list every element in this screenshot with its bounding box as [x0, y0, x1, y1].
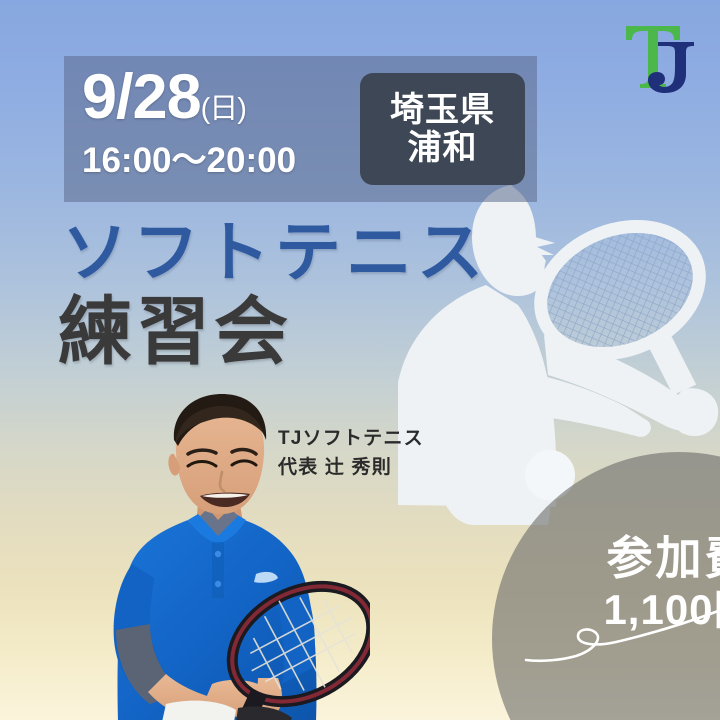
date-block: 9/28(日) 16:00〜20:00	[82, 66, 296, 178]
event-date-number: 9/28	[82, 62, 201, 132]
tj-logo	[618, 16, 700, 94]
place-prefecture: 埼玉県	[390, 91, 495, 129]
price-circle	[492, 452, 720, 720]
presenter-name: 代表 辻 秀則	[278, 453, 424, 482]
headline: ソフトテニス 練習会	[62, 218, 488, 371]
place-chip: 埼玉県 浦和	[360, 73, 525, 185]
poster-canvas: 9/28(日) 16:00〜20:00 埼玉県 浦和 ソフトテニス 練習会 TJ…	[0, 0, 720, 720]
headline-line-1: ソフトテニス	[62, 218, 488, 287]
place-city: 浦和	[408, 129, 478, 167]
event-date: 9/28(日)	[82, 66, 296, 129]
presenter-org: TJソフトテニス	[278, 424, 424, 453]
presenter-credit: TJソフトテニス 代表 辻 秀則	[278, 424, 424, 483]
event-day-of-week: (日)	[201, 93, 246, 125]
headline-line-2: 練習会	[58, 293, 488, 371]
event-time: 16:00〜20:00	[82, 143, 296, 178]
